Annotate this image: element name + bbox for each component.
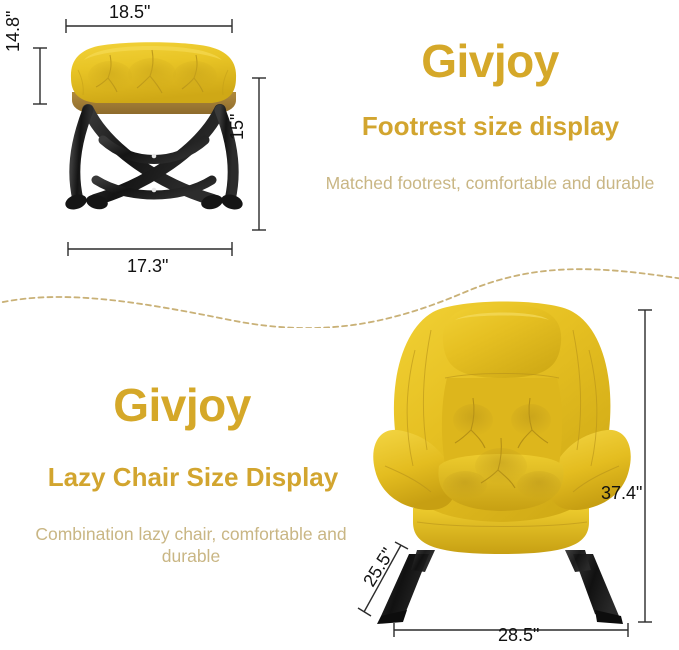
footrest-dimension-height-total: 15" — [228, 114, 246, 140]
chair-dimension-height: 37.4" — [601, 484, 642, 502]
footrest-headline: Footrest size display — [328, 113, 653, 139]
footrest-dimension-width-top: 18.5" — [109, 3, 150, 21]
infographic-canvas: 18.5" 14.8" 15" 17.3" Givjoy Footrest si… — [0, 0, 679, 650]
footrest-brand-name: Givjoy — [340, 38, 640, 84]
footrest-description: Matched footrest, comfortable and durabl… — [324, 172, 656, 194]
footrest-dimension-height-seat: 14.8" — [4, 11, 22, 52]
chair-headline: Lazy Chair Size Display — [18, 464, 368, 490]
chair-brand-name: Givjoy — [32, 382, 332, 428]
footrest-dimension-lines — [0, 0, 300, 280]
chair-dimension-width: 28.5" — [498, 626, 539, 644]
chair-description: Combination lazy chair, comfortable and … — [26, 523, 356, 568]
chair-dimension-lines — [340, 270, 679, 650]
